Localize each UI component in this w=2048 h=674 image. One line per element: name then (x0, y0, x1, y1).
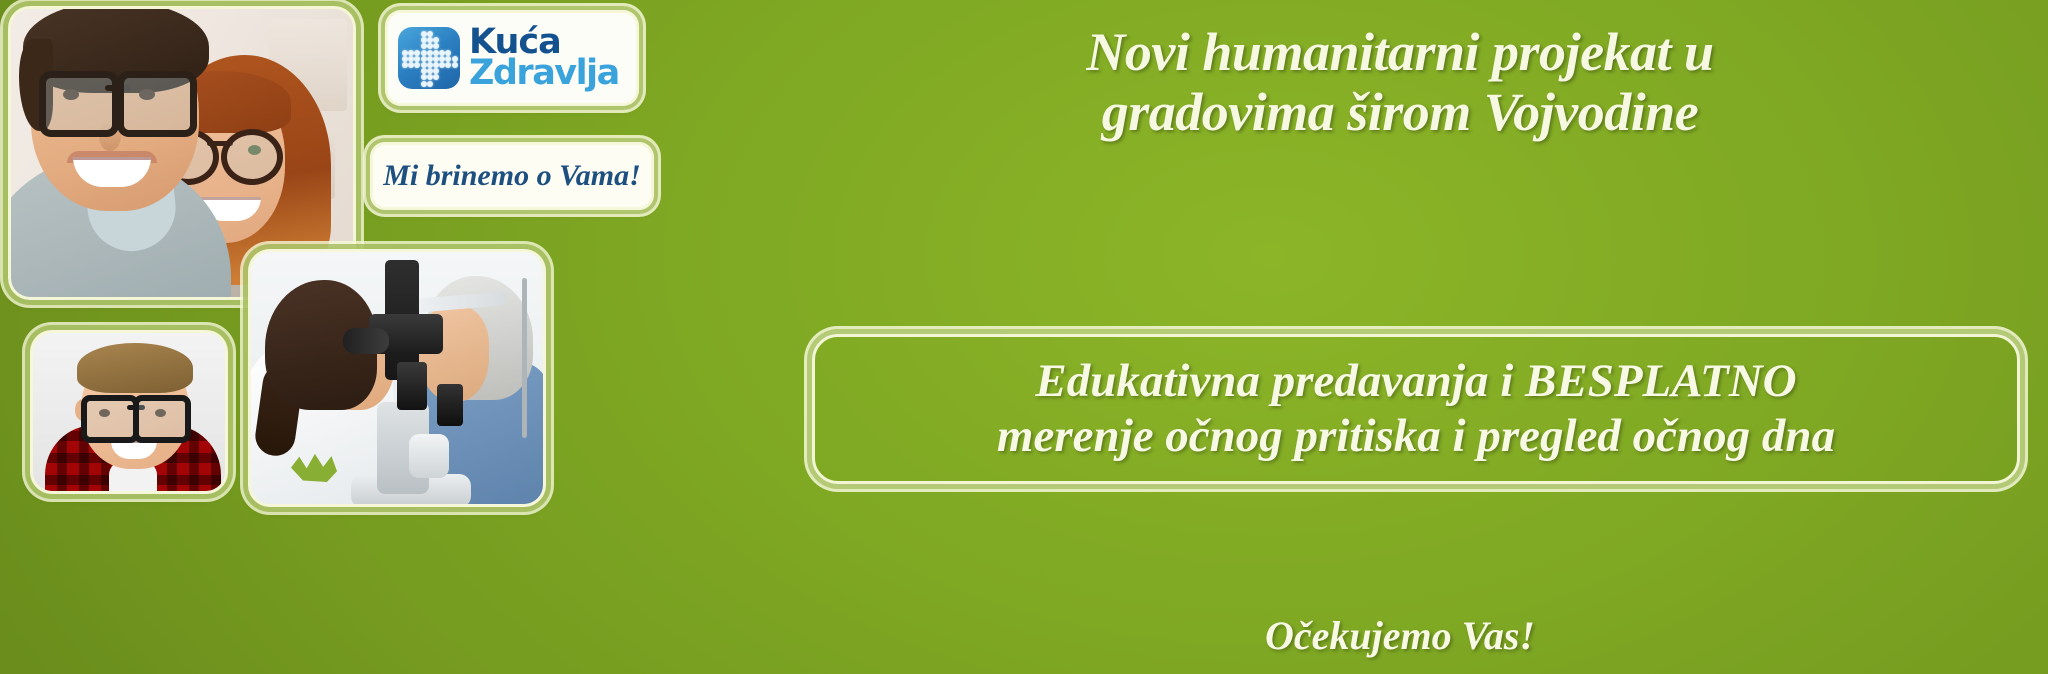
photo-boy-with-glasses (30, 330, 228, 494)
promotional-banner: Kuća Zdravlja Mi brinemo o Vama! Novi hu… (0, 0, 2048, 674)
photo-eye-examination (248, 249, 546, 507)
headline-line-1: Novi humanitarni projekat u (780, 22, 2020, 82)
brand-word-zdravlja: Zdravlja (469, 58, 619, 89)
highlight-box: Edukativna predavanja i BESPLATNO merenj… (812, 334, 2020, 484)
highlight-line-2: merenje očnog pritiska i pregled očnog d… (997, 409, 1835, 464)
brand-logo-card[interactable]: Kuća Zdravlja (385, 10, 639, 106)
footer-call-to-action: Očekujemo Vas! (780, 612, 2020, 659)
brand-wordmark: Kuća Zdravlja (469, 27, 619, 89)
tagline-card: Mi brinemo o Vama! (370, 142, 654, 210)
headline: Novi humanitarni projekat u gradovima ši… (780, 22, 2020, 143)
highlight-line-1: Edukativna predavanja i BESPLATNO (1035, 354, 1796, 409)
headline-line-2: gradovima širom Vojvodine (780, 82, 2020, 142)
medical-cross-icon (398, 27, 460, 89)
tagline-text: Mi brinemo o Vama! (383, 159, 641, 193)
